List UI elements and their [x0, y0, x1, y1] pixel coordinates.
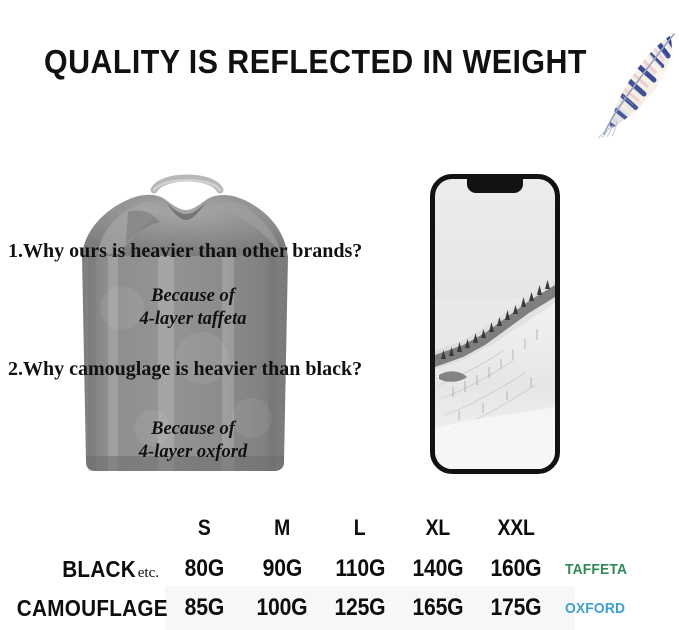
- size-header-s: S: [165, 515, 243, 541]
- phone-notch: [467, 178, 523, 193]
- size-header-xxl: XXL: [477, 515, 555, 541]
- size-weight-table: S M L XL XXL BLACKetc. 80G 90G 110G 140G…: [0, 506, 679, 630]
- answer-1-line-1: Because of: [108, 285, 278, 308]
- table-row-camouflage: CAMOUFLAGE 85G 100G 125G 165G 175G OXFOR…: [0, 588, 679, 628]
- weight-camo-l: 125G: [321, 594, 399, 622]
- weight-camo-xl: 165G: [399, 594, 477, 622]
- size-header-m: M: [243, 515, 321, 541]
- smartphone-mockup: [430, 174, 560, 474]
- weight-camo-m: 100G: [243, 594, 321, 622]
- phone-screen: [435, 179, 555, 469]
- row-label-black-suffix: etc.: [136, 565, 159, 581]
- weight-black-l: 110G: [321, 555, 399, 583]
- answer-2-line-2: 4-layer oxford: [108, 441, 278, 464]
- weight-black-xxl: 160G: [477, 555, 555, 583]
- feather-icon: [596, 30, 679, 138]
- row-label-black: BLACKetc.: [0, 556, 165, 583]
- row-label-camouflage-main: CAMOUFLAGE: [17, 595, 168, 622]
- header-band: QUALITY IS REFLECTED IN WEIGHT: [0, 0, 679, 150]
- page-title: QUALITY IS REFLECTED IN WEIGHT: [44, 40, 568, 84]
- row-label-camouflage: CAMOUFLAGE: [0, 595, 165, 622]
- material-oxford: OXFORD: [555, 600, 655, 617]
- table-row-black: BLACKetc. 80G 90G 110G 140G 160G TAFFETA: [0, 550, 679, 588]
- answer-1-line-2: 4-layer taffeta: [108, 308, 278, 331]
- question-2: 2.Why camouglage is heavier than black?: [8, 358, 362, 381]
- weight-black-m: 90G: [243, 555, 321, 583]
- table-header-row: S M L XL XXL: [0, 510, 679, 546]
- weight-black-xl: 140G: [399, 555, 477, 583]
- size-header-l: L: [321, 515, 399, 541]
- answer-1: Because of 4-layer taffeta: [108, 285, 278, 331]
- answer-2: Because of 4-layer oxford: [108, 418, 278, 464]
- question-1: 1.Why ours is heavier than other brands?: [8, 240, 362, 263]
- infographic-page: QUALITY IS REFLECTED IN WEIGHT: [0, 0, 679, 630]
- row-label-black-main: BLACK: [62, 556, 136, 583]
- weight-black-s: 80G: [165, 555, 243, 583]
- material-taffeta: TAFFETA: [555, 561, 655, 578]
- size-header-xl: XL: [399, 515, 477, 541]
- answer-2-line-1: Because of: [108, 418, 278, 441]
- weight-camo-s: 85G: [165, 594, 243, 622]
- weight-camo-xxl: 175G: [477, 594, 555, 622]
